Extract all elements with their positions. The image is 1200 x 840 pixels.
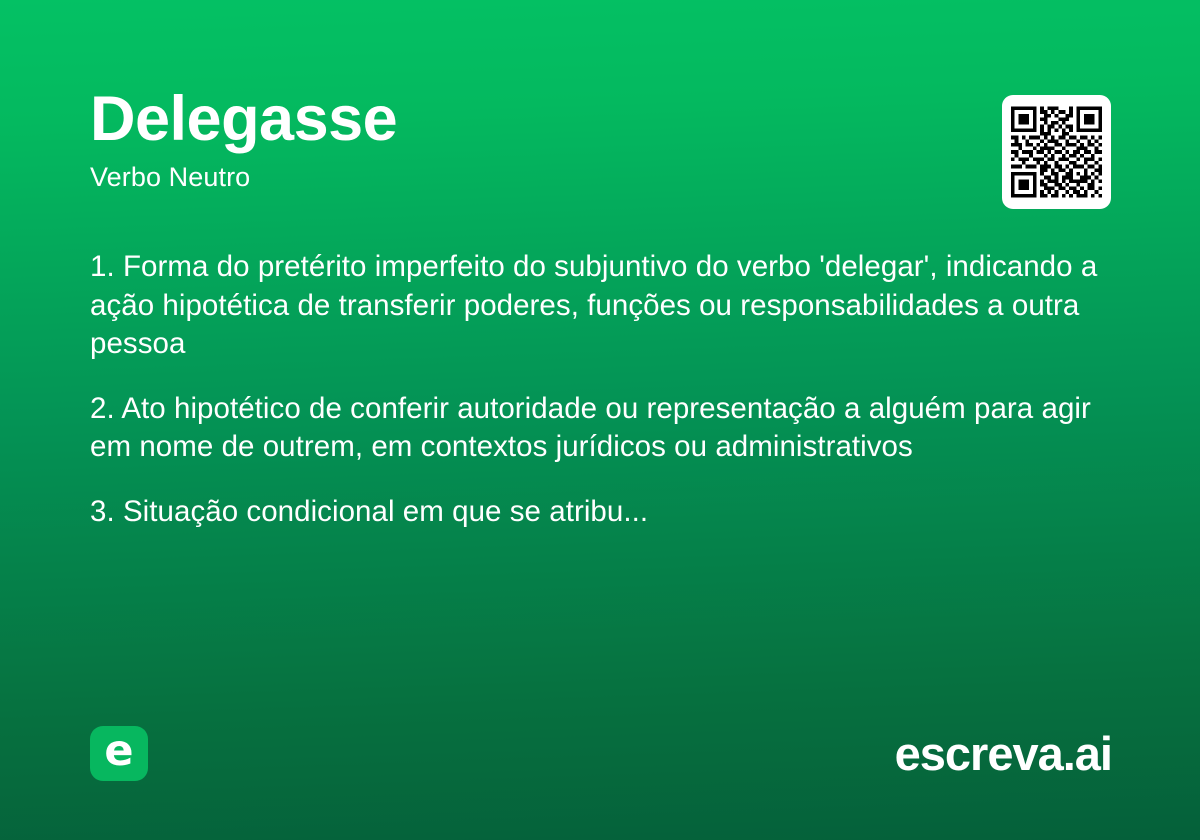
dictionary-word-card: Delegasse Verbo Neutro 1. Forma do preté… [0,0,1200,840]
word-class-label: Verbo Neutro [90,161,1110,193]
definition-item: 1. Forma do pretérito imperfeito do subj… [90,248,1115,364]
card-header: Delegasse Verbo Neutro [90,86,1110,193]
page-title: Delegasse [90,86,1110,153]
definitions-list: 1. Forma do pretérito imperfeito do subj… [90,248,1115,531]
card-footer: e escreva.ai [90,724,1112,782]
qr-code-card[interactable] [1002,95,1111,209]
escreva-logo-icon: e [90,726,148,781]
logo-letter: e [104,730,133,773]
brand-wordmark: escreva.ai [895,730,1112,777]
qr-code-icon [1011,104,1102,200]
definition-item: 2. Ato hipotético de conferir autoridade… [90,390,1115,467]
definition-item: 3. Situação condicional em que se atribu… [90,493,1115,532]
